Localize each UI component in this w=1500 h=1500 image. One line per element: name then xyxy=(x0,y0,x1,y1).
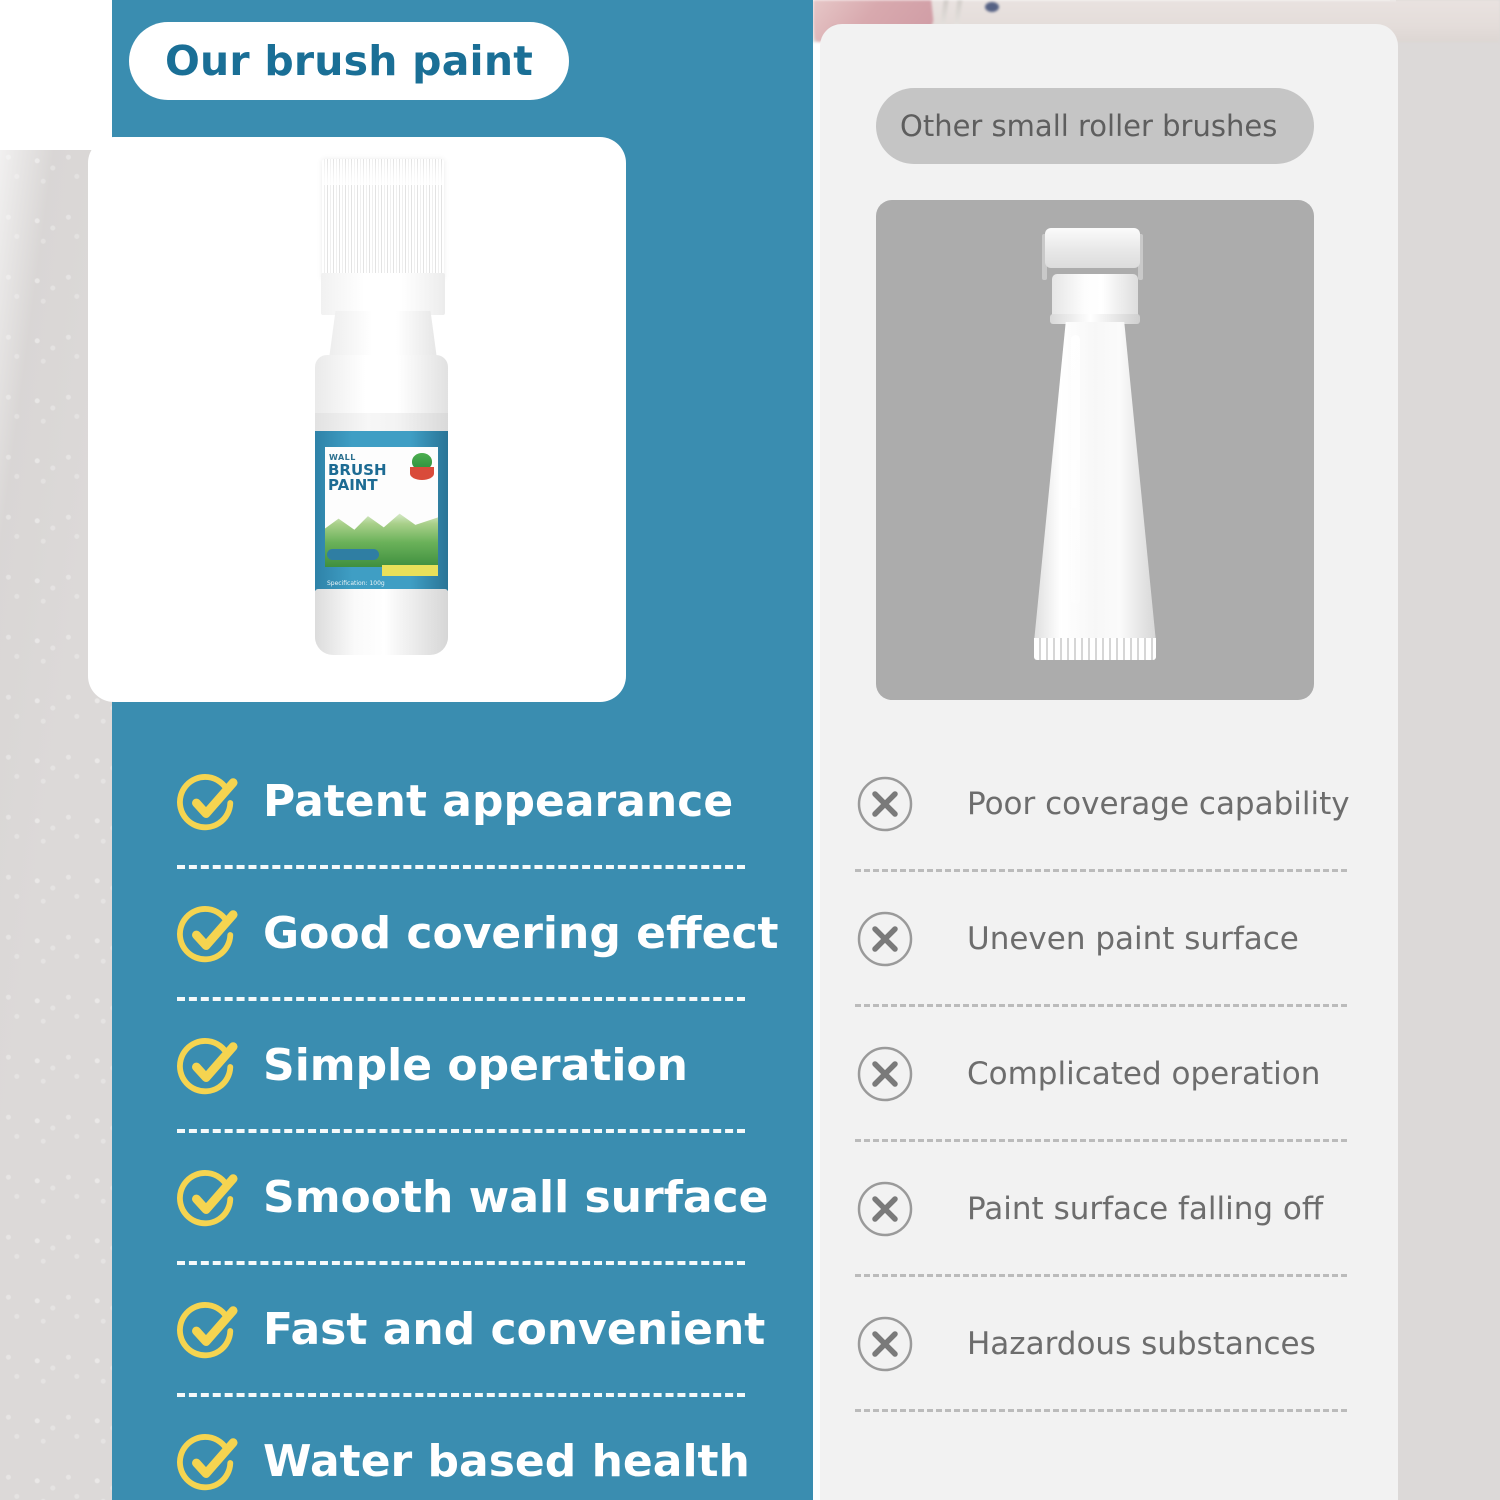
others-drawback-list: Poor coverage capability Uneven paint su… xyxy=(855,762,1347,1437)
feature-label: Simple operation xyxy=(263,1044,688,1088)
bottle-base xyxy=(315,589,448,655)
feature-divider xyxy=(177,997,745,1001)
bottle-label: WALL BRUSH PAINT Specification: 100g xyxy=(315,431,448,591)
bottle-cap xyxy=(315,355,448,417)
ours-title-pill: Our brush paint xyxy=(129,22,569,100)
label-easy-apply-tag xyxy=(327,549,379,560)
x-circle-icon xyxy=(855,774,915,834)
tube-body xyxy=(1034,322,1156,642)
feature-label: Fast and convenient xyxy=(263,1308,765,1352)
others-title: Other small roller brushes xyxy=(900,109,1277,143)
check-circle-icon xyxy=(177,903,239,965)
label-name-line2: PAINT xyxy=(328,476,378,494)
feature-label: Smooth wall surface xyxy=(263,1176,768,1220)
drawback-divider xyxy=(855,869,1347,872)
eco-badge-icon xyxy=(410,453,434,483)
drawback-row: Hazardous substances xyxy=(855,1302,1347,1386)
drawback-divider xyxy=(855,1004,1347,1007)
feature-label: Patent appearance xyxy=(263,780,733,824)
feature-divider xyxy=(177,1393,745,1397)
drawback-label: Hazardous substances xyxy=(967,1329,1316,1360)
bottle-collar xyxy=(315,413,448,433)
x-circle-icon xyxy=(855,1044,915,1104)
feature-row: Good covering effect xyxy=(177,892,745,976)
feature-divider xyxy=(177,865,745,869)
check-circle-icon xyxy=(177,771,239,833)
feature-label: Good covering effect xyxy=(263,912,779,956)
others-product-image-card xyxy=(876,200,1314,700)
eco-badge-base xyxy=(410,467,434,480)
background-right-grey xyxy=(1396,0,1500,1500)
roller-head xyxy=(1045,228,1140,268)
feature-row: Patent appearance xyxy=(177,760,745,844)
brush-paint-bottle-illustration: WALL BRUSH PAINT Specification: 100g xyxy=(257,159,457,679)
x-circle-icon xyxy=(855,1179,915,1239)
x-circle-icon xyxy=(855,909,915,969)
photo-dot xyxy=(985,2,999,12)
check-circle-icon xyxy=(177,1035,239,1097)
feature-row: Simple operation xyxy=(177,1024,745,1108)
drawback-row: Uneven paint surface xyxy=(855,897,1347,981)
tube-crimp xyxy=(1034,638,1156,660)
brush-ferrule xyxy=(321,273,445,315)
page-title: Our brush paint xyxy=(165,37,533,85)
feature-row: Smooth wall surface xyxy=(177,1156,745,1240)
drawback-row: Poor coverage capability xyxy=(855,762,1347,846)
check-circle-icon xyxy=(177,1431,239,1493)
tube-shoulder xyxy=(1052,274,1138,318)
x-circle-icon xyxy=(855,1314,915,1374)
brush-bristles xyxy=(322,159,444,279)
feature-row: Water based health xyxy=(177,1420,745,1500)
drawback-divider xyxy=(855,1139,1347,1142)
feature-label: Water based health xyxy=(263,1440,750,1484)
drawback-label: Uneven paint surface xyxy=(967,924,1299,955)
ours-feature-list: Patent appearance Good covering effect S… xyxy=(177,760,745,1500)
comparison-infographic: Our brush paint WALL BRUSH PAINT xyxy=(0,0,1500,1500)
ours-product-image-card: WALL BRUSH PAINT Specification: 100g xyxy=(88,137,626,702)
check-circle-icon xyxy=(177,1167,239,1229)
drawback-row: Complicated operation xyxy=(855,1032,1347,1116)
drawback-divider xyxy=(855,1274,1347,1277)
drawback-label: Complicated operation xyxy=(967,1059,1320,1090)
drawback-row: Paint surface falling off xyxy=(855,1167,1347,1251)
feature-divider xyxy=(177,1129,745,1133)
brush-neck xyxy=(329,311,437,359)
roller-tube-illustration xyxy=(1010,228,1180,678)
check-circle-icon xyxy=(177,1299,239,1361)
label-product-name: BRUSH PAINT xyxy=(328,463,387,493)
drawback-divider xyxy=(855,1409,1347,1412)
label-secondary-tag xyxy=(382,565,438,576)
feature-row: Fast and convenient xyxy=(177,1288,745,1372)
drawback-label: Poor coverage capability xyxy=(967,789,1350,820)
label-spec-text: Specification: 100g xyxy=(327,580,385,587)
others-title-pill: Other small roller brushes xyxy=(876,88,1314,164)
drawback-label: Paint surface falling off xyxy=(967,1194,1323,1225)
feature-divider xyxy=(177,1261,745,1265)
